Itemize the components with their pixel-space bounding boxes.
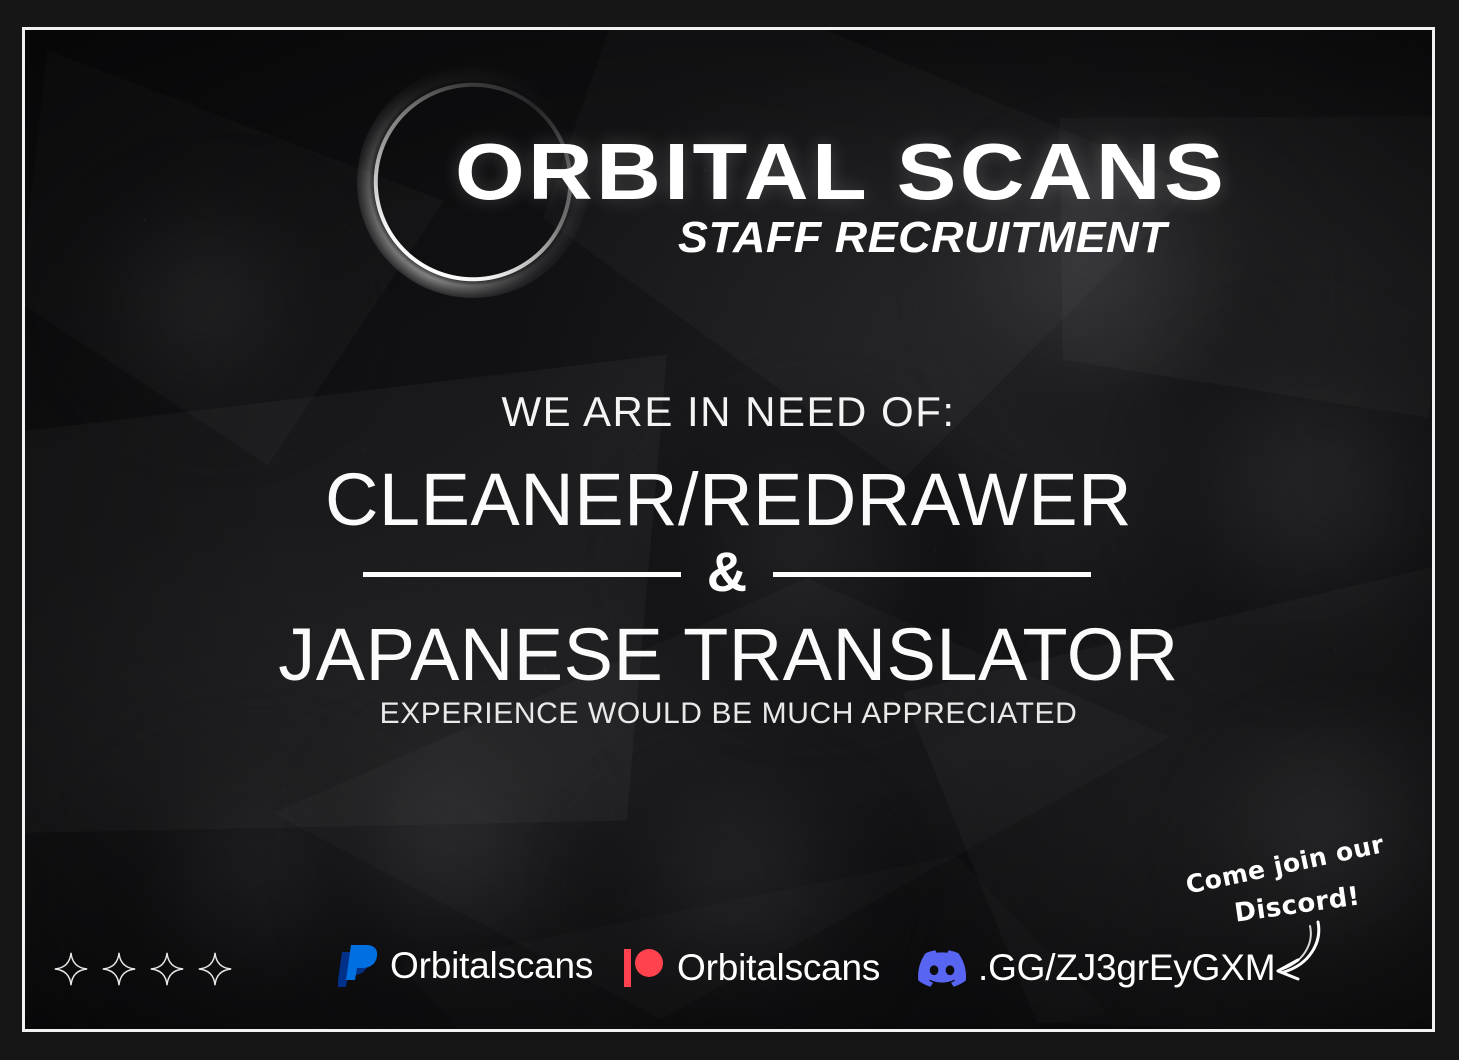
link-discord[interactable]: .GG/ZJ3grEyGXM bbox=[918, 947, 1275, 989]
sparkle-icon bbox=[197, 951, 233, 987]
sparkle-icon bbox=[53, 951, 89, 987]
brand-tagline: STAFF RECRUITMENT bbox=[678, 213, 1167, 263]
announcement-heading: WE ARE IN NEED OF: bbox=[25, 388, 1432, 436]
patreon-icon bbox=[623, 948, 665, 988]
discord-label: .GG/ZJ3grEyGXM bbox=[978, 947, 1275, 989]
sparkle-icon bbox=[149, 951, 185, 987]
logo-header: ORBITAL SCANS STAFF RECRUITMENT bbox=[25, 30, 1432, 320]
paypal-label: Orbitalscans bbox=[390, 945, 593, 987]
paypal-icon bbox=[338, 943, 378, 989]
patreon-label: Orbitalscans bbox=[677, 947, 880, 989]
sparkle-group bbox=[53, 951, 233, 987]
sparkle-icon bbox=[101, 951, 137, 987]
link-paypal[interactable]: Orbitalscans bbox=[338, 943, 593, 989]
ampersand-divider: & bbox=[363, 542, 1091, 606]
role-japanese-translator: JAPANESE TRANSLATOR bbox=[25, 612, 1432, 697]
role-cleaner-redrawer: CLEANER/REDRAWER bbox=[25, 457, 1432, 542]
link-patreon[interactable]: Orbitalscans bbox=[623, 947, 880, 989]
brand-wordmark: ORBITAL SCANS bbox=[455, 134, 1227, 210]
divider-rule-left bbox=[363, 572, 681, 577]
ampersand-label: & bbox=[707, 544, 747, 604]
callout-line-1: Come join our bbox=[1183, 829, 1386, 899]
recruitment-poster: ORBITAL SCANS STAFF RECRUITMENT WE ARE I… bbox=[0, 0, 1459, 1060]
experience-note: EXPERIENCE WOULD BE MUCH APPRECIATED bbox=[25, 697, 1432, 731]
poster-frame: ORBITAL SCANS STAFF RECRUITMENT WE ARE I… bbox=[22, 27, 1435, 1032]
divider-rule-right bbox=[773, 572, 1091, 577]
footer-bar: Orbitalscans Orbitalscans .GG/ZJ3grEyGXM bbox=[25, 899, 1432, 1029]
discord-icon bbox=[918, 950, 966, 987]
